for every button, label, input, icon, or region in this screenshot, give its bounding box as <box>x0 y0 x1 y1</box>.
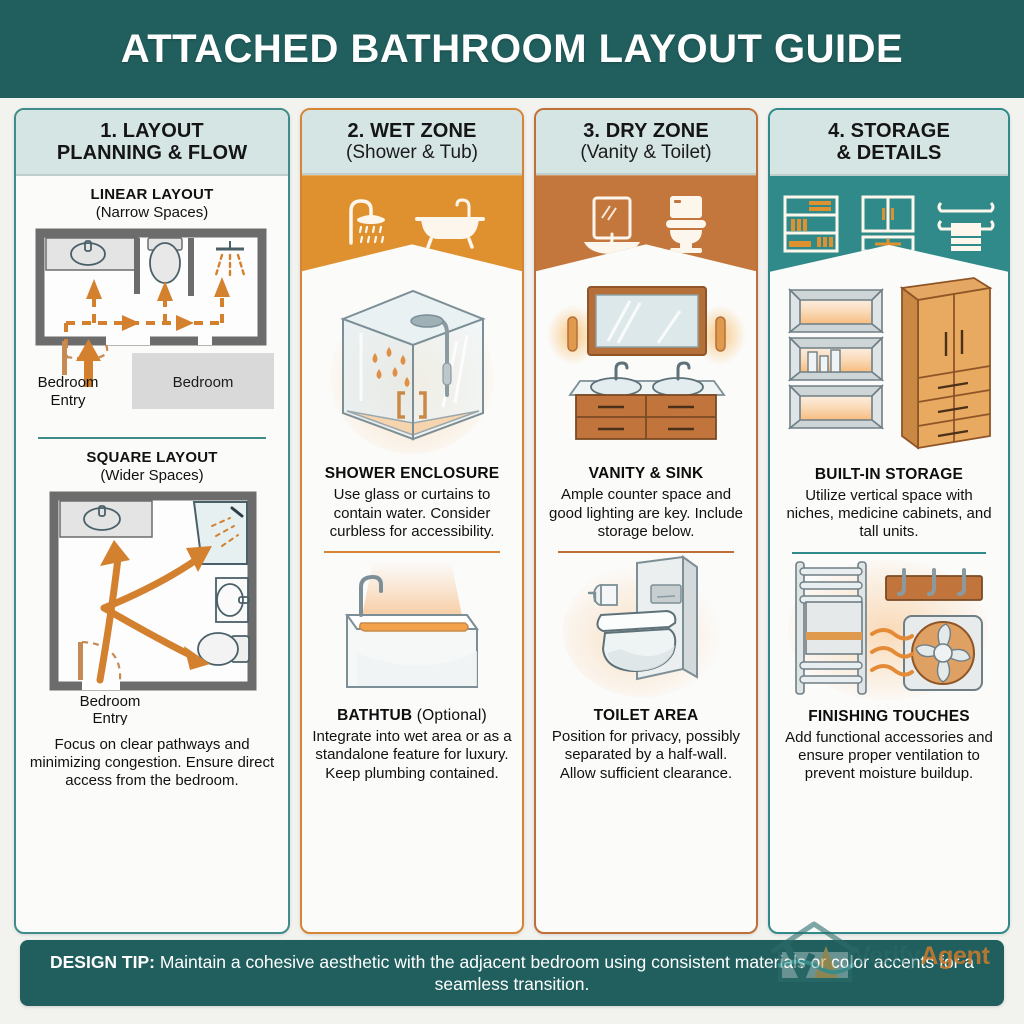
column-2-body: SHOWER ENCLOSURE Use glass or curtains t… <box>302 271 522 932</box>
shower-enclosure-text: Use glass or curtains to contain water. … <box>312 486 512 541</box>
built-in-storage-art <box>770 272 1008 462</box>
design-tip-text: DESIGN TIP: Maintain a cohesive aestheti… <box>46 951 978 996</box>
square-plan-entry-label-line2: Entry <box>92 710 128 725</box>
column-4-body: BUILT-IN STORAGE Utilize vertical space … <box>770 272 1008 932</box>
column-4-header: 4. STORAGE & DETAILS <box>770 110 1008 176</box>
dry-zone-banner <box>536 175 756 271</box>
shelving-icon <box>779 193 843 255</box>
column-4-title: 4. STORAGE <box>776 120 1002 142</box>
wet-zone-banner <box>302 175 522 271</box>
column-1-caption: Focus on clear pathways and minimizing c… <box>16 729 288 799</box>
toilet-icon <box>658 192 714 254</box>
column-2-header: 2. WET ZONE (Shower & Tub) <box>302 110 522 175</box>
design-tip-body: Maintain a cohesive aesthetic with the a… <box>155 952 974 994</box>
bathtub-icon <box>413 193 487 253</box>
page-title: ATTACHED BATHROOM LAYOUT GUIDE <box>121 27 903 72</box>
column-1-title-line2: PLANNING & FLOW <box>22 142 282 164</box>
finishing-touches-text: Add functional accessories and ensure pr… <box>780 729 998 784</box>
column-3-body: VANITY & SINK Ample counter space and go… <box>536 271 756 932</box>
bathtub-text: Integrate into wet area or as a standalo… <box>312 728 512 783</box>
shower-enclosure-art <box>302 271 522 461</box>
linear-layout-title: LINEAR LAYOUT <box>24 186 280 203</box>
bathtub-caption: BATHTUB (Optional) Integrate into wet ar… <box>302 703 522 791</box>
column-3-subtitle: (Vanity & Toilet) <box>542 142 750 164</box>
built-in-storage-title: BUILT-IN STORAGE <box>780 466 998 484</box>
column-dry-zone[interactable]: 3. DRY ZONE (Vanity & Toilet) <box>534 108 758 934</box>
square-layout-subtitle: (Wider Spaces) <box>24 467 280 484</box>
finishing-touches-title: FINISHING TOUCHES <box>780 708 998 726</box>
towel-rail-icon <box>933 193 999 255</box>
shower-head-icon <box>337 193 399 253</box>
column-3-header: 3. DRY ZONE (Vanity & Toilet) <box>536 110 756 175</box>
design-tip-banner: DESIGN TIP: Maintain a cohesive aestheti… <box>20 940 1004 1006</box>
infographic-page: ATTACHED BATHROOM LAYOUT GUIDE 1. LAYOUT… <box>0 0 1024 1024</box>
column-layout-planning-flow[interactable]: 1. LAYOUT PLANNING & FLOW LINEAR LAYOUT … <box>14 108 290 934</box>
column-4-title-line2: & DETAILS <box>776 142 1002 164</box>
square-layout-block: SQUARE LAYOUT (Wider Spaces) <box>16 439 288 729</box>
finishing-touches-caption: FINISHING TOUCHES Add functional accesso… <box>770 704 1008 792</box>
linear-plan-entry-label-line2: Entry <box>50 392 86 409</box>
shower-enclosure-title: SHOWER ENCLOSURE <box>312 465 512 483</box>
bathtub-art <box>302 553 522 703</box>
column-1-title: 1. LAYOUT <box>22 120 282 142</box>
vanity-sink-text: Ample counter space and good lighting ar… <box>546 486 746 541</box>
column-1-body: LINEAR LAYOUT (Narrow Spaces) <box>16 176 288 932</box>
bathtub-title: BATHTUB (Optional) <box>312 707 512 725</box>
storage-banner <box>770 176 1008 272</box>
finishing-touches-art <box>770 554 1008 704</box>
toilet-area-text: Position for privacy, possibly separated… <box>546 728 746 783</box>
design-tip-label: DESIGN TIP: <box>50 952 155 972</box>
square-plan-entry-label-line1: Bedroom <box>80 693 141 710</box>
column-3-title: 3. DRY ZONE <box>542 120 750 142</box>
page-header: ATTACHED BATHROOM LAYOUT GUIDE <box>0 0 1024 98</box>
linear-layout-block: LINEAR LAYOUT (Narrow Spaces) <box>16 176 288 431</box>
square-layout-title: SQUARE LAYOUT <box>24 449 280 466</box>
column-1-header: 1. LAYOUT PLANNING & FLOW <box>16 110 288 176</box>
linear-plan-entry-label-line1: Bedroom <box>38 374 99 391</box>
square-layout-floorplan: Bedroom Entry <box>26 490 278 725</box>
built-in-storage-caption: BUILT-IN STORAGE Utilize vertical space … <box>770 462 1008 550</box>
mirror-sink-icon <box>578 192 644 254</box>
cabinet-icon <box>857 193 919 255</box>
linear-plan-bedroom-label: Bedroom <box>173 374 234 391</box>
built-in-storage-text: Utilize vertical space with niches, medi… <box>780 487 998 542</box>
linear-layout-floorplan: Bedroom Bedroom Entry <box>26 227 278 427</box>
column-2-subtitle: (Shower & Tub) <box>308 142 516 164</box>
linear-layout-subtitle: (Narrow Spaces) <box>24 204 280 221</box>
vanity-sink-title: VANITY & SINK <box>546 465 746 483</box>
toilet-area-art <box>536 553 756 703</box>
vanity-sink-caption: VANITY & SINK Ample counter space and go… <box>536 461 756 549</box>
bathtub-title-suffix: (Optional) <box>412 707 487 724</box>
shower-enclosure-caption: SHOWER ENCLOSURE Use glass or curtains t… <box>302 461 522 549</box>
column-1-caption-text: Focus on clear pathways and minimizing c… <box>26 736 278 791</box>
vanity-sink-art <box>536 271 756 461</box>
toilet-area-caption: TOILET AREA Position for privacy, possib… <box>536 703 756 791</box>
columns-container: 1. LAYOUT PLANNING & FLOW LINEAR LAYOUT … <box>0 104 1024 934</box>
toilet-area-title: TOILET AREA <box>546 707 746 725</box>
column-storage-details[interactable]: 4. STORAGE & DETAILS <box>768 108 1010 934</box>
column-2-title: 2. WET ZONE <box>308 120 516 142</box>
column-wet-zone[interactable]: 2. WET ZONE (Shower & Tub) <box>300 108 524 934</box>
bathtub-title-main: BATHTUB <box>337 707 412 724</box>
